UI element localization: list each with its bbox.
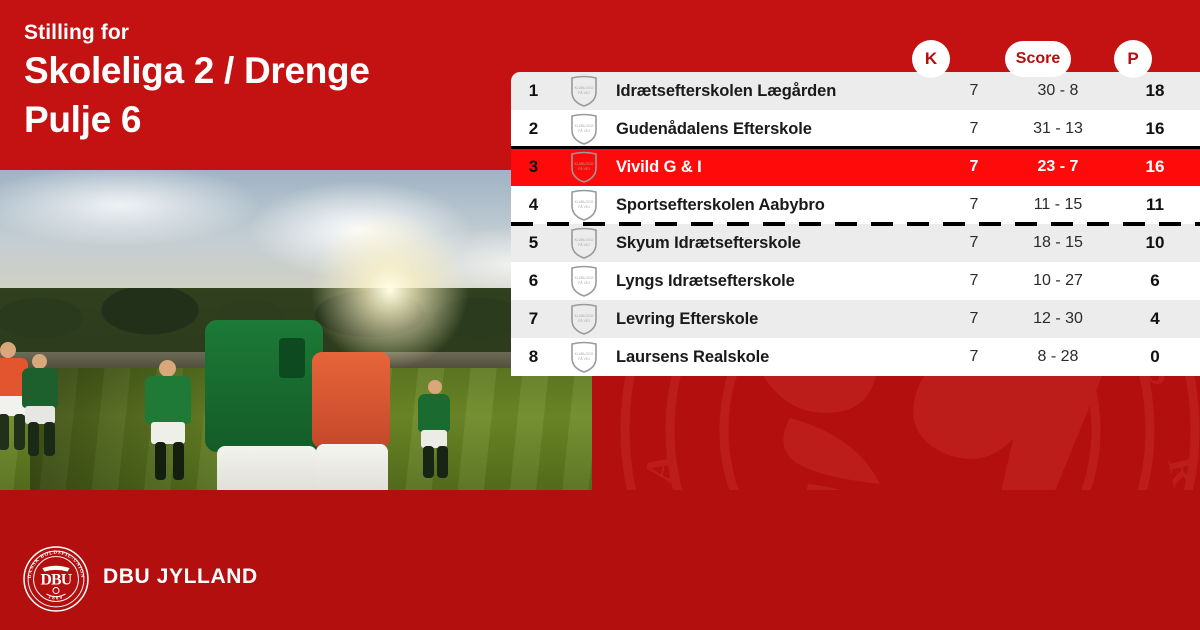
column-header-points: P	[1114, 40, 1152, 78]
club-crest-placeholder-icon: KLUBLOGOPÅ VEJ	[556, 188, 611, 222]
table-row[interactable]: 3KLUBLOGOPÅ VEJVivild G & I723 - 716	[511, 148, 1200, 186]
row-score: 8 - 28	[1006, 348, 1110, 366]
table-row[interactable]: 7KLUBLOGOPÅ VEJLevring Efterskole712 - 3…	[511, 300, 1200, 338]
row-team-name: Lyngs Idrætsefterskole	[611, 272, 943, 291]
column-header-score: Score	[1005, 41, 1071, 77]
row-team-name: Levring Efterskole	[611, 310, 943, 329]
row-played: 7	[942, 310, 1006, 328]
club-crest-placeholder-icon: KLUBLOGOPÅ VEJ	[556, 264, 611, 298]
row-score: 23 - 7	[1006, 158, 1110, 176]
page-title: Skoleliga 2 / Drenge	[24, 50, 370, 92]
row-played: 7	[942, 348, 1006, 366]
svg-text:KLUBLOGO: KLUBLOGO	[574, 200, 593, 204]
row-team-name: Vivild G & I	[611, 158, 943, 177]
svg-text:PÅ VEJ: PÅ VEJ	[578, 280, 590, 285]
row-score: 10 - 27	[1006, 272, 1110, 290]
svg-text:R: R	[1159, 453, 1200, 490]
footer-brand-label: DBU JYLLAND	[103, 565, 258, 589]
row-team-name: Gudenådalens Efterskole	[611, 120, 943, 139]
row-team-name: Skyum Idrætsefterskole	[611, 234, 943, 253]
header-kicker: Stilling for	[24, 21, 129, 45]
promotion-divider-line	[511, 146, 1200, 149]
row-played: 7	[942, 120, 1006, 138]
svg-text:KLUBLOGO: KLUBLOGO	[574, 162, 593, 166]
footer-bar	[0, 490, 1200, 630]
svg-text:PÅ VEJ: PÅ VEJ	[578, 356, 590, 361]
svg-text:KLUBLOGO: KLUBLOGO	[574, 352, 593, 356]
row-points: 4	[1110, 309, 1200, 329]
club-crest-placeholder-icon: KLUBLOGOPÅ VEJ	[556, 112, 611, 146]
row-rank: 3	[511, 157, 556, 177]
column-header-played: K	[912, 40, 950, 78]
football-match-photo	[0, 170, 592, 490]
row-rank: 7	[511, 309, 556, 329]
club-crest-placeholder-icon: KLUBLOGOPÅ VEJ	[556, 150, 611, 184]
club-crest-placeholder-icon: KLUBLOGOPÅ VEJ	[556, 226, 611, 260]
svg-text:A: A	[637, 450, 684, 485]
row-team-name: Sportsefterskolen Aabybro	[611, 196, 943, 215]
row-played: 7	[942, 196, 1006, 214]
svg-text:PÅ VEJ: PÅ VEJ	[578, 318, 590, 323]
row-rank: 1	[511, 81, 556, 101]
svg-text:PÅ VEJ: PÅ VEJ	[578, 128, 590, 133]
row-points: 11	[1110, 195, 1200, 215]
row-points: 6	[1110, 271, 1200, 291]
svg-text:PÅ VEJ: PÅ VEJ	[578, 242, 590, 247]
svg-text:KLUBLOGO: KLUBLOGO	[574, 86, 593, 90]
row-score: 30 - 8	[1006, 82, 1110, 100]
table-row[interactable]: 6KLUBLOGOPÅ VEJLyngs Idrætsefterskole710…	[511, 262, 1200, 300]
svg-text:KLUBLOGO: KLUBLOGO	[574, 124, 593, 128]
club-crest-placeholder-icon: KLUBLOGOPÅ VEJ	[556, 74, 611, 108]
row-score: 18 - 15	[1006, 234, 1110, 252]
svg-text:PÅ VEJ: PÅ VEJ	[578, 90, 590, 95]
dbu-seal-logo: DANSK BOLDSPIL-UNION 1889 DBU	[22, 545, 90, 613]
row-played: 7	[942, 82, 1006, 100]
table-row[interactable]: 8KLUBLOGOPÅ VEJLaursens Realskole78 - 28…	[511, 338, 1200, 376]
row-team-name: Idrætsefterskolen Lægården	[611, 82, 943, 101]
table-row[interactable]: 1KLUBLOGOPÅ VEJIdrætsefterskolen Lægårde…	[511, 72, 1200, 110]
row-points: 10	[1110, 233, 1200, 253]
row-rank: 6	[511, 271, 556, 291]
row-points: 18	[1110, 81, 1200, 101]
row-score: 11 - 15	[1006, 196, 1110, 214]
svg-text:KLUBLOGO: KLUBLOGO	[574, 238, 593, 242]
table-row[interactable]: 4KLUBLOGOPÅ VEJSportsefterskolen Aabybro…	[511, 186, 1200, 224]
row-team-name: Laursens Realskole	[611, 348, 943, 367]
row-points: 16	[1110, 119, 1200, 139]
row-score: 31 - 13	[1006, 120, 1110, 138]
svg-text:KLUBLOGO: KLUBLOGO	[574, 276, 593, 280]
row-rank: 5	[511, 233, 556, 253]
row-points: 16	[1110, 157, 1200, 177]
svg-text:KLUBLOGO: KLUBLOGO	[574, 314, 593, 318]
row-points: 0	[1110, 347, 1200, 367]
qualification-cutoff-line	[511, 222, 1200, 226]
page-subtitle: Pulje 6	[24, 99, 141, 141]
row-score: 12 - 30	[1006, 310, 1110, 328]
club-crest-placeholder-icon: KLUBLOGOPÅ VEJ	[556, 340, 611, 374]
row-played: 7	[942, 272, 1006, 290]
row-rank: 2	[511, 119, 556, 139]
table-row[interactable]: 5KLUBLOGOPÅ VEJSkyum Idrætsefterskole718…	[511, 224, 1200, 262]
row-played: 7	[942, 158, 1006, 176]
club-crest-placeholder-icon: KLUBLOGOPÅ VEJ	[556, 302, 611, 336]
row-rank: 4	[511, 195, 556, 215]
svg-text:DBU: DBU	[41, 571, 72, 588]
table-row[interactable]: 2KLUBLOGOPÅ VEJGudenådalens Efterskole73…	[511, 110, 1200, 148]
row-rank: 8	[511, 347, 556, 367]
svg-text:PÅ VEJ: PÅ VEJ	[578, 204, 590, 209]
svg-text:PÅ VEJ: PÅ VEJ	[578, 166, 590, 171]
row-played: 7	[942, 234, 1006, 252]
